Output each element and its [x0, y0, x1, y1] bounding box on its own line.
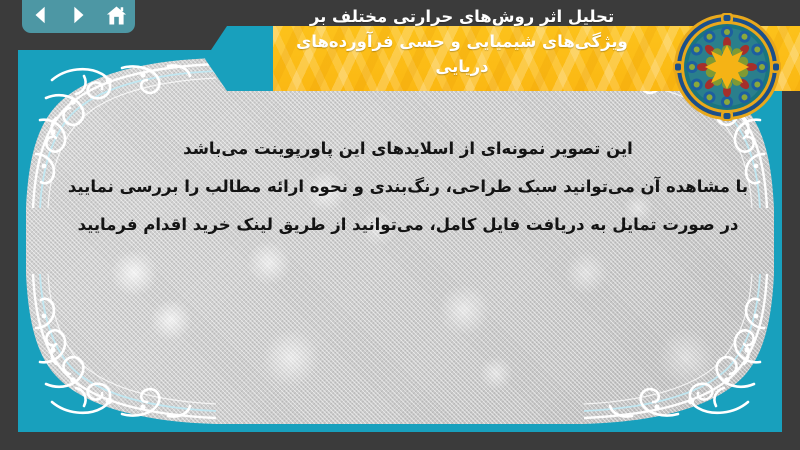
slide-body-text: این تصویر نمونه‌ای از اسلایدهای این پاور… — [66, 130, 750, 244]
title-line: تحلیل اثر روش‌های حرارتی مختلف بر — [205, 4, 719, 29]
next-arrow-icon[interactable] — [65, 2, 91, 28]
page-title: تحلیل اثر روش‌های حرارتی مختلف بر ویژگی‌… — [205, 4, 725, 114]
body-line: در صورت تمایل به دریافت فایل کامل، می‌تو… — [66, 206, 750, 244]
corner-ornament-bottom-left — [26, 274, 216, 424]
persian-medallion-ornament — [672, 12, 782, 122]
corner-ornament-bottom-right — [584, 274, 774, 424]
body-line: با مشاهده آن می‌توانید سبک طراحی، رنگ‌بن… — [66, 168, 750, 206]
home-icon[interactable] — [103, 2, 129, 28]
title-line: ویژگی‌های شیمیایی و حسی فرآورده‌های — [205, 29, 719, 54]
title-line: دریایی — [205, 54, 719, 79]
previous-arrow-icon[interactable] — [28, 2, 54, 28]
slide-viewer: تحلیل اثر روش‌های حرارتی مختلف بر ویژگی‌… — [0, 0, 800, 450]
navigation-toolbar — [22, 0, 135, 33]
body-line: این تصویر نمونه‌ای از اسلایدهای این پاور… — [66, 130, 750, 168]
